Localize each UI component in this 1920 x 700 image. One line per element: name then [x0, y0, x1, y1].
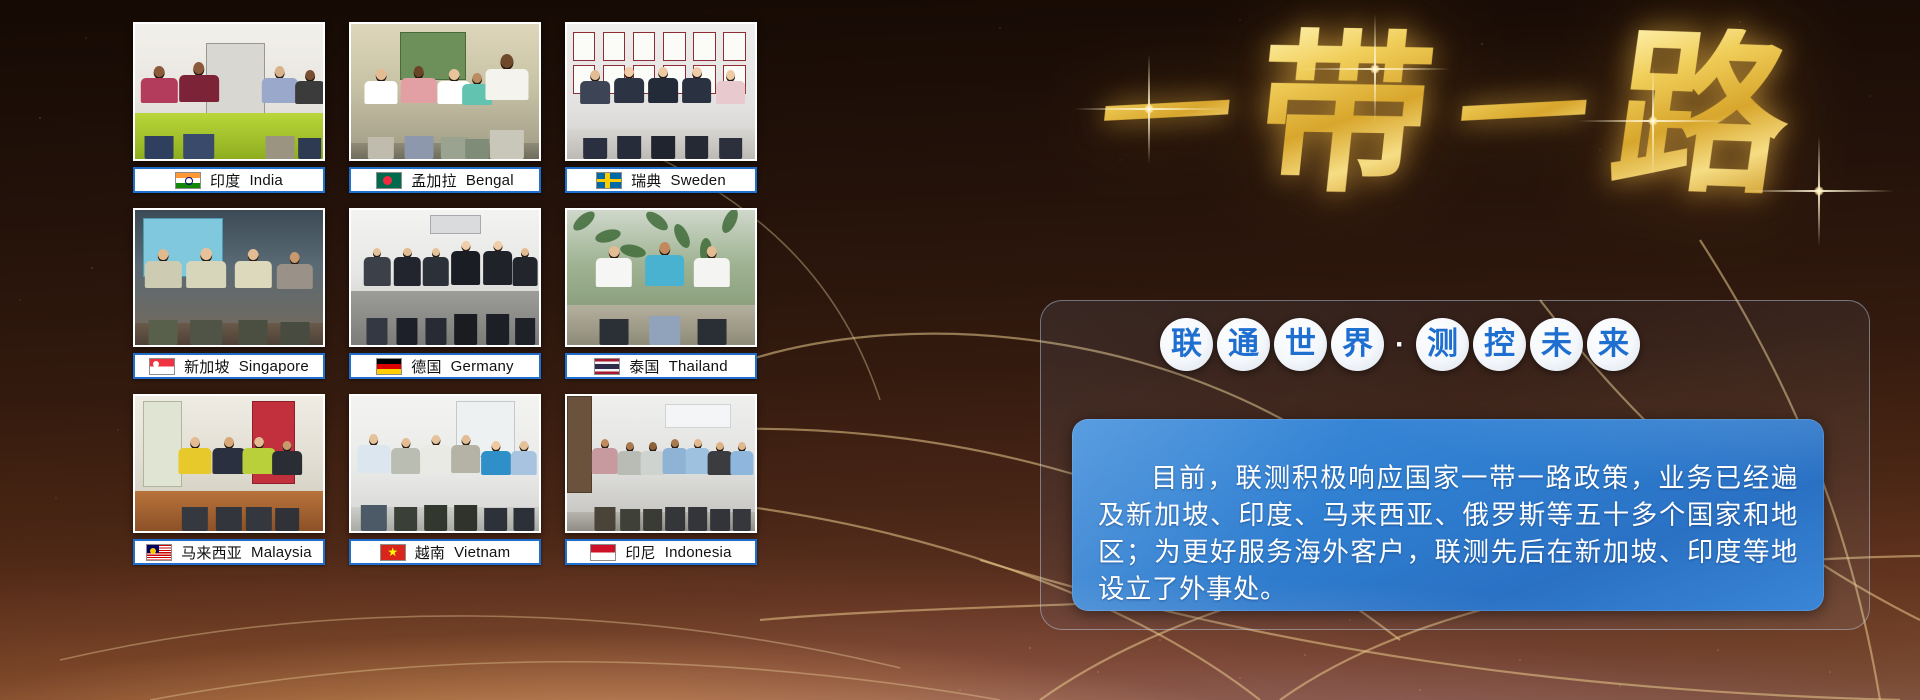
photo-thumbnail[interactable] [133, 208, 325, 347]
photo-caption: 孟加拉Bengal [349, 167, 541, 193]
photo-figure [293, 70, 325, 159]
caption-country-cn: 瑞典 [631, 170, 661, 191]
vietnam-flag-icon: ★ [380, 544, 406, 561]
banner-stage: 一 带 一 路 联 通 世 界 · 测 控 未 来 目前，联测积极响应国家一带一… [0, 0, 1920, 700]
photo-figure [642, 242, 687, 345]
photo-caption: 马来西亚Malaysia [133, 539, 325, 565]
photo-figure [578, 70, 612, 159]
photo-figure [593, 246, 634, 345]
photo-figure [362, 69, 400, 159]
bengal-flag-icon [376, 172, 402, 189]
germany-flag-icon [376, 358, 402, 375]
photo-scene [567, 210, 755, 345]
photo-scene [135, 210, 323, 345]
thailand-flag-icon [594, 358, 620, 375]
photo-caption: 印度India [133, 167, 325, 193]
photo-figure [419, 435, 453, 531]
photo-scene [351, 396, 539, 531]
caption-country-en: Thailand [669, 358, 728, 375]
photo-figure [479, 441, 513, 531]
caption-country-cn: 越南 [415, 542, 445, 563]
caption-country-en: Bengal [466, 172, 514, 189]
country-photo-grid: 印度India孟加拉Bengal瑞典Sweden新加坡Singapore德国Ge… [133, 22, 758, 582]
slogan-row: 联 通 世 界 · 测 控 未 来 [1160, 318, 1640, 371]
photo-figure [139, 66, 180, 159]
photo-figure [355, 434, 393, 531]
photo-figure [233, 249, 274, 345]
photo-figure [449, 241, 483, 345]
caption-country-en: Singapore [239, 358, 309, 375]
calligraphy-title: 一 带 一 路 [1020, 8, 1870, 223]
caption-country-cn: 泰国 [629, 356, 659, 377]
photo-caption: 泰国Thailand [565, 353, 757, 379]
photo-caption: 德国Germany [349, 353, 541, 379]
photo-figure [509, 441, 539, 531]
photo-thumbnail[interactable] [133, 394, 325, 533]
slogan-separator-dot: · [1388, 330, 1412, 360]
caption-country-en: Sweden [670, 172, 725, 189]
caption-country-en: Germany [451, 358, 514, 375]
photo-scene [351, 24, 539, 159]
caption-country-cn: 马来西亚 [181, 542, 242, 563]
sweden-flag-icon [596, 172, 622, 189]
photo-card-bengal[interactable]: 孟加拉Bengal [349, 22, 541, 200]
india-flag-icon [175, 172, 201, 189]
photo-figure [398, 66, 439, 159]
caption-country-en: Vietnam [454, 544, 510, 561]
photo-figure [270, 441, 304, 531]
photo-card-india[interactable]: 印度India [133, 22, 325, 200]
slogan-char-lian: 联 [1160, 318, 1213, 371]
photo-figure [646, 67, 680, 159]
slogan-char-jie: 界 [1331, 318, 1384, 371]
photo-figure [421, 248, 451, 345]
photo-figure [729, 442, 755, 531]
caption-country-en: India [249, 172, 283, 189]
photo-caption: ★越南Vietnam [349, 539, 541, 565]
photo-thumbnail[interactable] [133, 22, 325, 161]
photo-caption: 新加坡Singapore [133, 353, 325, 379]
photo-figure [176, 62, 221, 159]
photo-thumbnail[interactable] [349, 208, 541, 347]
photo-thumbnail[interactable] [349, 22, 541, 161]
slogan-char-shi: 世 [1274, 318, 1327, 371]
calligraphy-char-4: 路 [1602, 25, 1801, 206]
star-icon: ★ [387, 546, 398, 558]
photo-card-singapore[interactable]: 新加坡Singapore [133, 208, 325, 386]
photo-card-indonesia[interactable]: 印尼Indonesia [565, 394, 757, 572]
photo-caption: 印尼Indonesia [565, 539, 757, 565]
photo-figure [143, 249, 184, 345]
caption-country-cn: 印度 [210, 170, 240, 191]
photo-caption: 瑞典Sweden [565, 167, 757, 193]
slogan-char-kong: 控 [1473, 318, 1526, 371]
malaysia-flag-icon [146, 544, 172, 561]
slogan-char-tong: 通 [1217, 318, 1270, 371]
photo-thumbnail[interactable] [349, 394, 541, 533]
photo-figure [392, 248, 422, 345]
photo-scene [567, 396, 755, 531]
photo-scene [135, 396, 323, 531]
indonesia-flag-icon [590, 544, 616, 561]
photo-figure [274, 252, 315, 345]
photo-scene [567, 24, 755, 159]
photo-figure [481, 241, 515, 345]
description-card: 目前，联测积极响应国家一带一路政策，业务已经遍及新加坡、印度、马来西亚、俄罗斯等… [1072, 419, 1824, 611]
photo-figure [691, 246, 732, 345]
photo-figure [680, 67, 714, 159]
photo-figure [449, 435, 483, 531]
photo-card-germany[interactable]: 德国Germany [349, 208, 541, 386]
photo-figure [176, 437, 214, 532]
photo-figure [714, 70, 748, 159]
photo-card-malaysia[interactable]: 马来西亚Malaysia [133, 394, 325, 572]
photo-figure [511, 248, 539, 345]
photo-card-thailand[interactable]: 泰国Thailand [565, 208, 757, 386]
photo-thumbnail[interactable] [565, 22, 757, 161]
photo-card-vietnam[interactable]: ★越南Vietnam [349, 394, 541, 572]
photo-scene [351, 210, 539, 345]
caption-country-cn: 德国 [411, 356, 441, 377]
slogan-char-lai: 来 [1587, 318, 1640, 371]
calligraphy-char-2: 带 [1248, 26, 1441, 204]
photo-card-sweden[interactable]: 瑞典Sweden [565, 22, 757, 200]
photo-figure [483, 54, 532, 159]
caption-country-en: Indonesia [665, 544, 732, 561]
caption-country-en: Malaysia [251, 544, 312, 561]
slogan-char-ce: 测 [1416, 318, 1469, 371]
photo-thumbnail[interactable] [565, 208, 757, 347]
photo-scene [135, 24, 323, 159]
photo-figure [184, 248, 229, 345]
photo-thumbnail[interactable] [565, 394, 757, 533]
caption-country-cn: 孟加拉 [411, 170, 457, 191]
caption-country-cn: 印尼 [625, 542, 655, 563]
photo-figure [362, 248, 392, 345]
photo-figure [612, 67, 646, 159]
singapore-flag-icon [149, 358, 175, 375]
calligraphy-char-3: 一 [1451, 47, 1596, 184]
caption-country-cn: 新加坡 [184, 356, 230, 377]
description-paragraph-1: 目前，联测积极响应国家一带一路政策，业务已经遍及新加坡、印度、马来西亚、俄罗斯等… [1098, 460, 1798, 608]
slogan-char-wei: 未 [1530, 318, 1583, 371]
calligraphy-char-1: 一 [1094, 47, 1239, 184]
photo-figure [389, 438, 423, 531]
